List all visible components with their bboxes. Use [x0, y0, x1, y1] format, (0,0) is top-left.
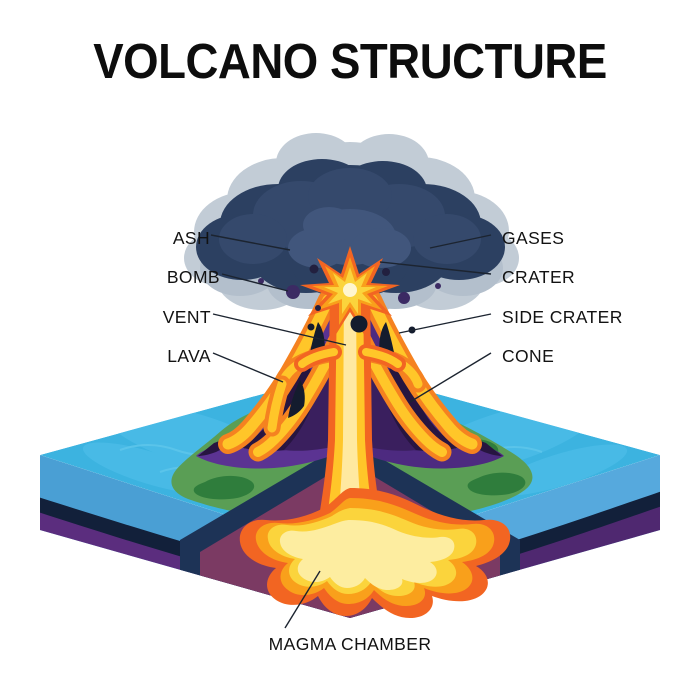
bomb-dot [315, 305, 321, 311]
bomb-dot [310, 265, 319, 274]
label-cone[interactable]: CONE [502, 348, 554, 366]
label-ash[interactable]: ASH [60, 230, 210, 248]
bomb-dot [308, 324, 315, 331]
bomb-dot [286, 285, 300, 299]
label-crater[interactable]: CRATER [502, 269, 575, 287]
bomb-dot [398, 292, 410, 304]
volcano-structure-infographic: VOLCANO STRUCTURE [0, 0, 700, 700]
label-lava[interactable]: LAVA [60, 348, 211, 366]
label-side-crater[interactable]: SIDE CRATER [502, 309, 623, 327]
label-bomb[interactable]: BOMB [60, 269, 220, 287]
bomb-dot [351, 316, 368, 333]
leader-line-lava [213, 353, 283, 382]
bomb-dot [382, 268, 390, 276]
label-magma-chamber[interactable]: MAGMA CHAMBER [0, 636, 700, 654]
label-gases[interactable]: GASES [502, 230, 564, 248]
label-vent[interactable]: VENT [60, 309, 211, 327]
leader-line-side-crater [399, 314, 491, 333]
burst-core [343, 283, 357, 297]
bomb-dot [435, 283, 441, 289]
